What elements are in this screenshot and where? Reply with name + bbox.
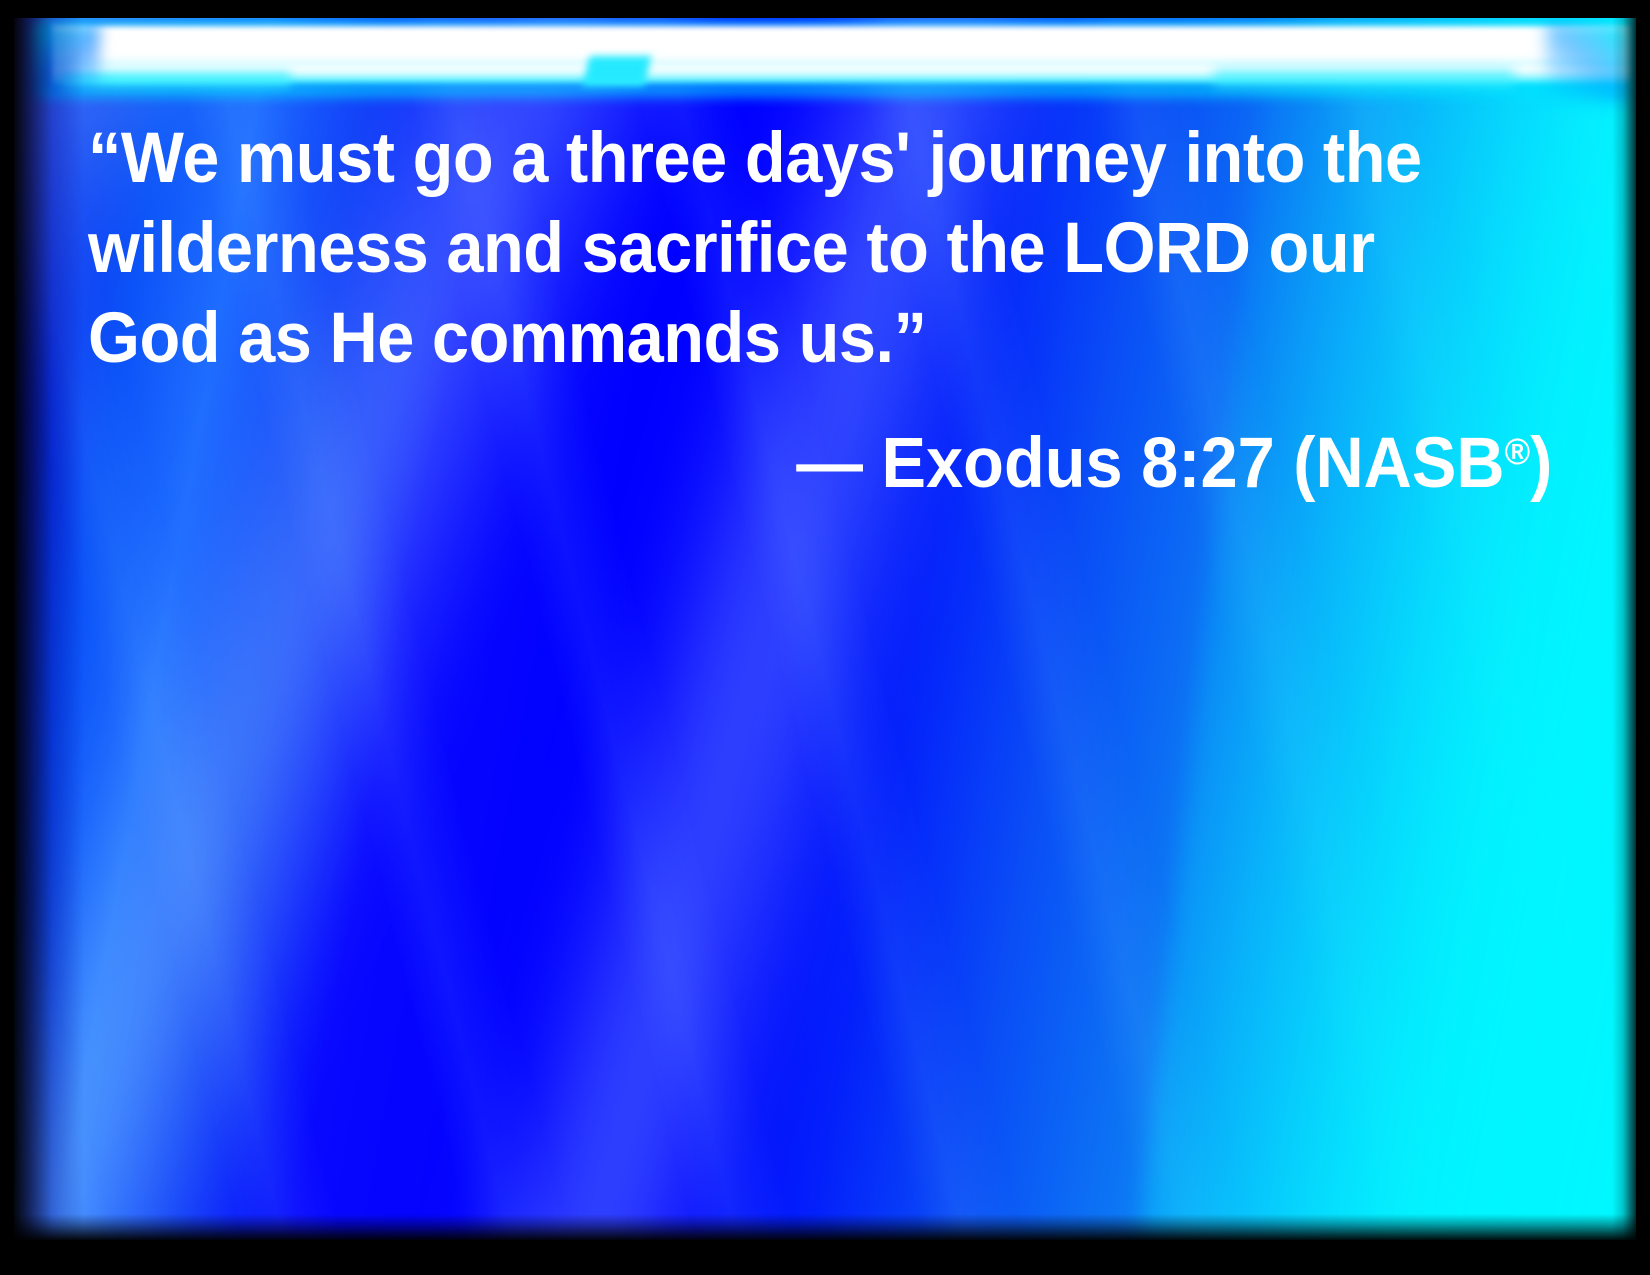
slide-artwork: “We must go a three days' journey into t… (14, 18, 1636, 1240)
citation-main-text: — Exodus 8:27 (NASB (796, 424, 1504, 503)
top-band-wisp-right (1214, 70, 1514, 86)
verse-line-3: God as He commands us.” (88, 294, 1470, 384)
left-edge-vignette (14, 18, 84, 1240)
registered-trademark-icon: ® (1504, 431, 1530, 472)
verse-line-2: wilderness and sacrifice to the LORD our (88, 204, 1470, 294)
citation-row: — Exodus 8:27 (NASB®) (88, 410, 1558, 506)
verse-slide: “We must go a three days' journey into t… (0, 0, 1650, 1275)
bottom-edge-vignette (14, 1214, 1636, 1240)
verse-line-1: “We must go a three days' journey into t… (88, 114, 1470, 204)
right-edge-vignette (1612, 18, 1636, 1240)
citation-closing-paren: ) (1530, 424, 1552, 503)
scripture-citation: — Exodus 8:27 (NASB®) (796, 410, 1552, 506)
top-glow-band (14, 18, 1636, 106)
top-band-notch (583, 56, 651, 86)
verse-text-block: “We must go a three days' journey into t… (88, 114, 1558, 506)
